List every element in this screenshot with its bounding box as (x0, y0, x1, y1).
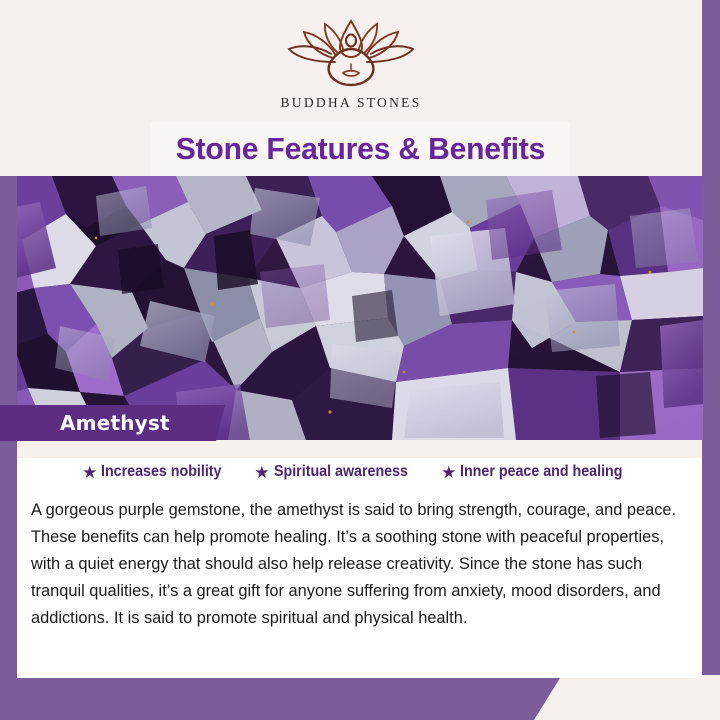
star-icon: ★ (254, 464, 269, 481)
frame-left-accent-bar (0, 176, 17, 720)
page-title-band: Stone Features & Benefits (150, 122, 570, 176)
star-icon: ★ (441, 464, 456, 481)
benefit-label-3: Inner peace and healing (460, 463, 622, 481)
brand-name: BUDDHA STONES (280, 95, 421, 111)
description-panel: ★ Increases nobility ★ Spiritual awarene… (17, 441, 702, 678)
stone-features-infographic: BUDDHA STONES Stone Features & Benefits (0, 0, 720, 720)
star-icon: ★ (82, 464, 97, 481)
stone-name-label: Amethyst (0, 405, 225, 441)
benefit-item-1: ★ Increases nobility (82, 463, 232, 481)
stone-name-text: Amethyst (60, 411, 170, 435)
page-title: Stone Features & Benefits (175, 131, 544, 167)
stone-description-text: A gorgeous purple gemstone, the amethyst… (31, 497, 688, 632)
brand-logo: BUDDHA STONES (277, 18, 425, 111)
benefit-item-3: ★ Inner peace and healing (441, 463, 637, 481)
benefit-item-2: ★ Spiritual awareness (254, 463, 419, 481)
amethyst-crystal-cluster-photo (0, 176, 703, 440)
benefit-label-2: Spiritual awareness (274, 463, 408, 481)
lotus-meditation-figure-icon (277, 18, 425, 90)
panel-top-cream-strip (17, 441, 702, 458)
header: BUDDHA STONES Stone Features & Benefits (0, 0, 702, 176)
frame-right-accent-bar (702, 0, 720, 675)
benefits-list: ★ Increases nobility ★ Spiritual awarene… (17, 463, 702, 481)
frame-bottom-accent-bar (0, 678, 560, 720)
benefit-label-1: Increases nobility (101, 463, 221, 481)
